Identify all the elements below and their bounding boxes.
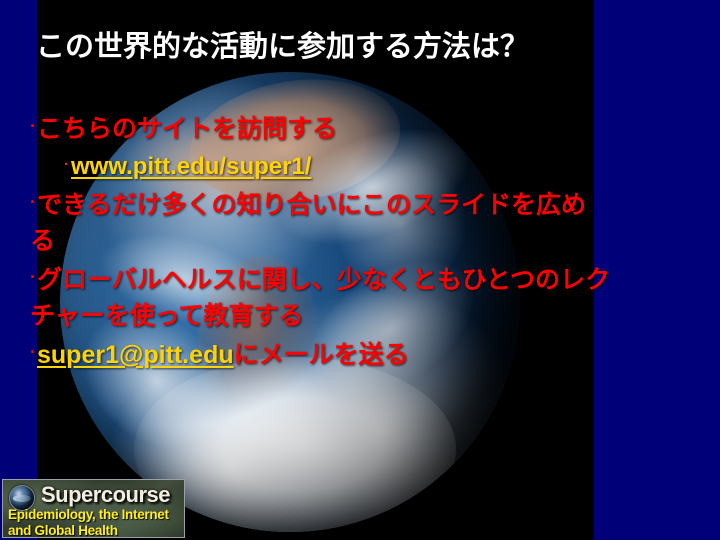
slide-text-layer: この世界的な活動に参加する方法は？ ·こちらのサイトを訪問する ·www.pit… bbox=[0, 0, 720, 540]
bullet-item-visit-site: ·こちらのサイトを訪問する bbox=[30, 108, 610, 148]
slide-canvas: この世界的な活動に参加する方法は？ ·こちらのサイトを訪問する ·www.pit… bbox=[0, 0, 720, 540]
bullet-marker-icon: · bbox=[30, 192, 36, 212]
bullet-item-send-email: ·super1@pitt.eduにメールを送る bbox=[30, 334, 610, 373]
website-url-link[interactable]: www.pitt.edu/super1/ bbox=[71, 153, 311, 180]
bullet-marker-icon: · bbox=[30, 116, 36, 136]
logo-title: Supercourse bbox=[41, 482, 170, 508]
bullet-text: グローバルヘルスに関し、少なくともひとつのレクチャーを使って教育する bbox=[30, 266, 610, 330]
bullet-item-teach-lecture: ·グローバルヘルスに関し、少なくともひとつのレクチャーを使って教育する bbox=[30, 259, 610, 334]
sub-bullet-marker-icon: · bbox=[64, 156, 69, 173]
page-title: この世界的な活動に参加する方法は？ bbox=[36, 28, 676, 66]
slide-body: ·こちらのサイトを訪問する ·www.pitt.edu/super1/ ·できる… bbox=[30, 108, 610, 373]
bullet-text: こちらのサイトを訪問する bbox=[37, 115, 337, 143]
bullet-text: できるだけ多くの知り合いにこのスライドを広める bbox=[30, 191, 586, 255]
supercourse-logo[interactable]: Supercourse Epidemiology, the Internet a… bbox=[2, 479, 185, 538]
email-suffix-text: にメールを送る bbox=[234, 341, 409, 369]
bullet-marker-icon: · bbox=[30, 342, 36, 362]
email-address-link[interactable]: super1@pitt.edu bbox=[37, 341, 234, 369]
bullet-item-share-slides: ·できるだけ多くの知り合いにこのスライドを広める bbox=[30, 184, 610, 259]
bullet-marker-icon: · bbox=[30, 267, 36, 287]
logo-subtitle: Epidemiology, the Internet and Global He… bbox=[8, 507, 184, 538]
sub-bullet-website-link[interactable]: ·www.pitt.edu/super1/ bbox=[30, 148, 610, 184]
